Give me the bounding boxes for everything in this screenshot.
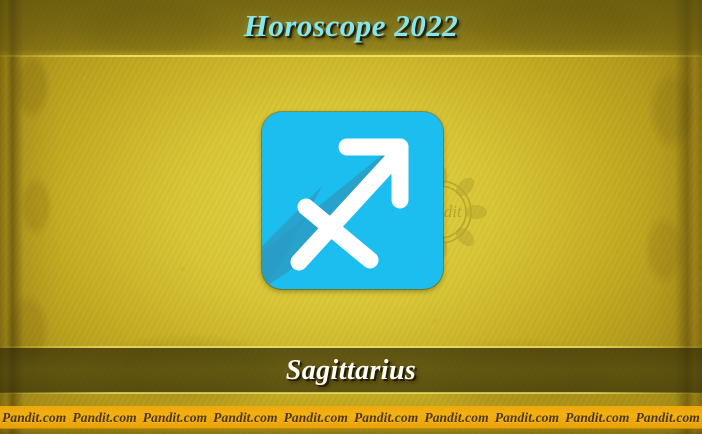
footer-watermark-band: Pandit.comPandit.comPandit.comPandit.com…: [0, 406, 702, 429]
sign-band-rule-bottom: [0, 392, 702, 394]
footer-watermark-item: Pandit.com: [284, 410, 348, 426]
footer-watermark-item: Pandit.com: [565, 410, 629, 426]
footer-watermark-item: Pandit.com: [72, 410, 136, 426]
footer-watermark-item: Pandit.com: [424, 410, 488, 426]
footer-watermark-item: Pandit.com: [495, 410, 559, 426]
page-title: Horoscope 2022: [0, 8, 702, 44]
horoscope-banner: Horoscope 2022 pandit: [0, 0, 702, 434]
footer-watermark-item: Pandit.com: [143, 410, 207, 426]
sagittarius-arrow-icon: [262, 112, 443, 289]
zodiac-sign-name: Sagittarius: [0, 355, 702, 387]
sagittarius-icon-card[interactable]: [262, 112, 443, 289]
footer-bottom-shade: [0, 428, 702, 434]
footer-watermark-item: Pandit.com: [354, 410, 418, 426]
footer-watermark-item: Pandit.com: [636, 410, 700, 426]
footer-watermark-item: Pandit.com: [213, 410, 277, 426]
footer-watermark-item: Pandit.com: [2, 410, 66, 426]
header-band-rule: [0, 55, 702, 57]
